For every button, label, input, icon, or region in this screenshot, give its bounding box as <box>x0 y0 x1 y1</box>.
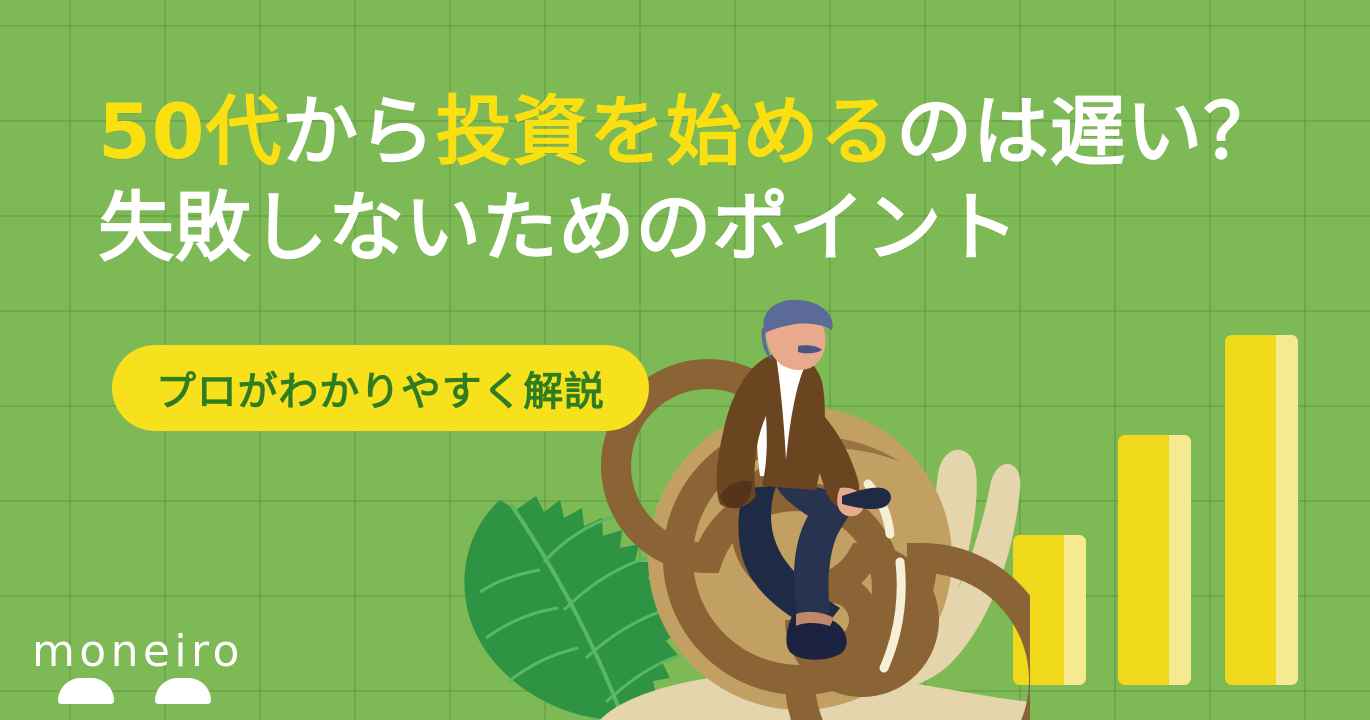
headline-line-1: 50代から投資を始めるのは遅い？ <box>98 84 1228 180</box>
banner-canvas: 50代から投資を始めるのは遅い？ 失敗しないためのポイント プロがわかりやすく解… <box>0 0 1370 720</box>
chart-bar-2 <box>1118 435 1191 685</box>
headline-line-2: 失敗しないためのポイント <box>98 180 1228 276</box>
headline-seg-2: から <box>282 87 436 176</box>
logo[interactable]: moneiro <box>32 630 244 706</box>
logo-wordmark: moneiro <box>32 630 244 674</box>
headline-seg-5: 失敗しないためのポイント <box>98 183 1019 272</box>
chart-bar-2-highlight <box>1169 435 1191 685</box>
status-badge: プロがわかりやすく解説 <box>112 345 649 431</box>
chart-bar-3 <box>1225 335 1298 685</box>
logo-arches <box>32 678 212 706</box>
badge-label: プロがわかりやすく解説 <box>156 359 605 417</box>
chart-bar-3-highlight <box>1276 335 1298 685</box>
chart-bar-1-highlight <box>1064 535 1086 685</box>
headline-seg-4: のは遅い？ <box>896 87 1280 176</box>
logo-arch-left-icon <box>58 678 114 704</box>
seated-businessman-illustration <box>690 300 910 680</box>
headline-seg-3: 投資を始める <box>436 87 897 176</box>
logo-arch-right-icon <box>155 678 211 704</box>
page-title: 50代から投資を始めるのは遅い？ 失敗しないためのポイント <box>98 84 1228 276</box>
headline-seg-1: 50代 <box>98 87 282 176</box>
